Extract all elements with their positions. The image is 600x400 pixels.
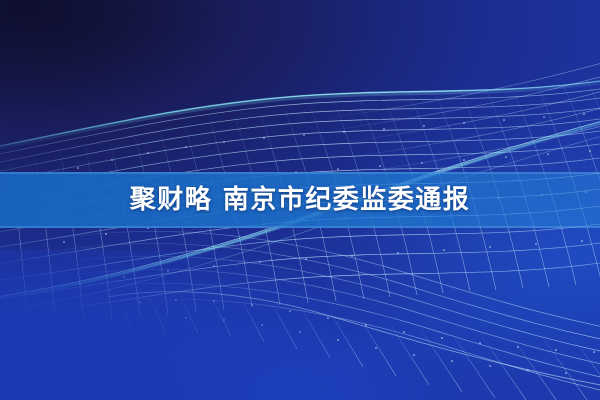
title-container: 聚财略 南京市纪委监委通报 xyxy=(0,172,600,228)
banner-image: 聚财略 南京市纪委监委通报 xyxy=(0,0,600,400)
mesh-upper-right-wave xyxy=(330,58,600,172)
bottom-left-wash xyxy=(0,250,330,400)
banner-title: 聚财略 南京市纪委监委通报 xyxy=(130,187,471,213)
